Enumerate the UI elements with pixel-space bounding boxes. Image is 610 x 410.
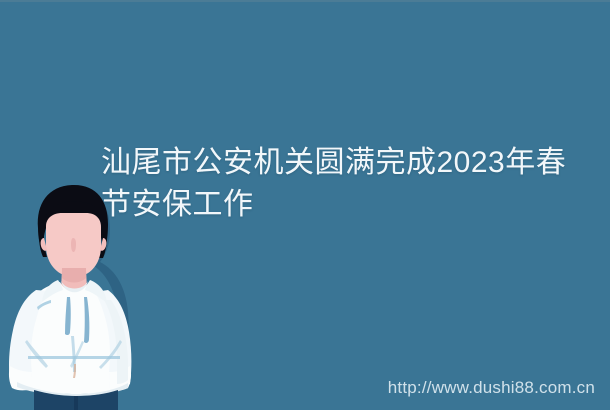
page-title: 汕尾市公安机关圆满完成2023年春节安保工作 [101,142,581,226]
hoodie [9,280,131,396]
site-watermark-url: http://www.dushi88.com.cn [388,378,595,398]
top-edge-line [0,0,610,2]
article-cover-image: 汕尾市公安机关圆满完成2023年春节安保工作 http://www.dushi8… [0,0,610,410]
